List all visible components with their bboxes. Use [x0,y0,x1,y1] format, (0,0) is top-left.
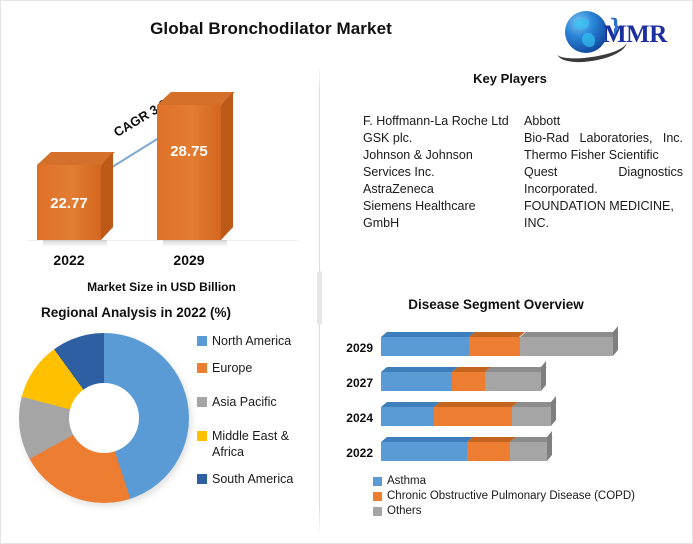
segment-face [512,407,551,426]
key-player-item: AstraZeneca [363,181,510,198]
infographic-canvas: Global Bronchodilator Market ❴ MMR CAGR … [0,0,693,544]
segment-top [381,367,458,372]
key-player-item: FOUNDATION MEDICINE, INC. [524,198,683,232]
legend-swatch-north-america [197,336,207,346]
disease-row-label: 2027 [335,376,373,390]
disease-segment-chart: Disease Segment Overview 2029 2027 2024 … [331,297,691,544]
key-player-item: Thermo Fisher Scientific [524,147,683,164]
bar-end-cap [547,431,552,461]
market-size-chart: CAGR 3.3% 22.77 2022 28.75 2029 Market S… [9,69,314,294]
disease-row-2024: 2024 [331,405,691,435]
segment-face [467,442,510,461]
disease-segment-asthma [381,337,469,356]
bar-2029-value: 28.75 [157,143,221,160]
key-player-item: GSK plc. [363,130,510,147]
disease-segment-asthma [381,372,452,391]
segment-face [381,372,452,391]
legend-item: North America [197,333,317,349]
divider-knob [317,271,322,325]
legend-item: Asthma [373,475,691,487]
disease-segment-others [512,407,551,426]
disease-segment-copd [452,372,485,391]
key-players-left-column: F. Hoffmann-La Roche Ltd GSK plc. Johnso… [363,113,510,232]
legend-item: Middle East & Africa [197,428,317,460]
key-player-item: F. Hoffmann-La Roche Ltd [363,113,510,130]
legend-item: South America [197,471,317,487]
legend-label: Europe [212,360,252,376]
disease-segment-others [520,337,613,356]
key-players-columns: F. Hoffmann-La Roche Ltd GSK plc. Johnso… [363,113,683,232]
disease-segment-others [485,372,541,391]
segment-top [520,332,619,337]
segment-top [434,402,518,407]
segment-face [381,407,434,426]
bar-end-cap [541,361,546,391]
disease-row-label: 2022 [335,446,373,460]
disease-segment-copd [434,407,512,426]
disease-row-2027: 2027 [331,370,691,400]
key-player-item: Siemens Healthcare GmbH [363,198,510,232]
legend-swatch-europe [197,363,207,373]
regional-analysis-title: Regional Analysis in 2022 (%) [7,305,265,320]
segment-top [469,332,525,337]
segment-top [485,367,547,372]
segment-face [510,442,547,461]
disease-stacked-bar [381,337,613,356]
legend-label: Asia Pacific [212,394,277,410]
disease-segment-asthma [381,442,467,461]
segment-face [520,337,613,356]
legend-swatch-middle-east-africa [197,431,207,441]
bar-2022: 22.77 [37,165,101,240]
key-players-title: Key Players [331,71,689,86]
bar-end-cap [551,396,556,426]
segment-face [452,372,485,391]
disease-legend: Asthma Chronic Obstructive Pulmonary Dis… [373,475,691,520]
legend-swatch-others [373,507,382,516]
segment-face [381,337,469,356]
segment-top [381,402,440,407]
bar-2029-front [157,105,221,240]
key-players-section: Key Players F. Hoffmann-La Roche Ltd GSK… [331,71,689,296]
bar-2029-shadow [163,240,227,247]
page-title: Global Bronchodilator Market [1,19,541,39]
disease-stacked-bar [381,442,547,461]
legend-item: Others [373,505,691,517]
legend-label: South America [212,471,293,487]
bar-2022-value: 22.77 [37,195,101,212]
disease-segment-others [510,442,547,461]
bar-end-cap [613,326,618,356]
bar-2022-side [101,152,113,240]
disease-segment-title: Disease Segment Overview [331,297,661,312]
legend-swatch-copd [373,492,382,501]
segment-face [485,372,541,391]
bar-2029: 28.75 [157,105,221,240]
segment-face [434,407,512,426]
bar-2022-shadow [43,240,107,247]
bar-2029-label: 2029 [154,252,224,268]
legend-item: Europe [197,360,317,376]
bar-2029-side [221,92,233,240]
disease-row-2029: 2029 [331,335,691,365]
legend-swatch-south-america [197,474,207,484]
legend-label: Chronic Obstructive Pulmonary Disease (C… [387,490,635,502]
legend-swatch-asthma [373,477,382,486]
key-player-item: Johnson & Johnson Services Inc. [363,147,510,181]
globe-icon [565,11,607,53]
key-player-item: Abbott [524,113,683,130]
disease-segment-copd [469,337,519,356]
bar-2022-label: 2022 [34,252,104,268]
regional-legend: North America Europe Asia Pacific Middle… [197,333,317,498]
segment-top [381,332,475,337]
disease-segment-copd [467,442,510,461]
key-players-right-column: Abbott Bio-Rad Laboratories, Inc. Thermo… [524,113,683,232]
regional-donut [19,333,189,503]
key-player-item: Quest Diagnostics Incorporated. [524,164,683,198]
disease-row-2022: 2022 [331,440,691,470]
disease-stacked-bar [381,372,541,391]
legend-label: Others [387,505,422,517]
legend-item: Asia Pacific [197,394,317,410]
disease-row-label: 2029 [335,341,373,355]
disease-segment-asthma [381,407,434,426]
legend-item: Chronic Obstructive Pulmonary Disease (C… [373,490,691,502]
logo-text: MMR [603,21,667,49]
market-size-caption: Market Size in USD Billion [9,280,314,294]
header: Global Bronchodilator Market ❴ MMR [1,1,693,63]
key-player-item: Bio-Rad Laboratories, Inc. [524,130,683,147]
segment-face [381,442,467,461]
disease-stacked-bar [381,407,551,426]
legend-label: Middle East & Africa [212,428,317,460]
mmr-logo: ❴ MMR [557,9,689,57]
legend-label: Asthma [387,475,426,487]
segment-face [469,337,519,356]
regional-analysis-chart: Regional Analysis in 2022 (%) North Amer… [7,301,317,541]
legend-label: North America [212,333,291,349]
legend-swatch-asia-pacific [197,397,207,407]
disease-row-label: 2024 [335,411,373,425]
segment-top [381,437,473,442]
donut-hole [69,383,139,453]
